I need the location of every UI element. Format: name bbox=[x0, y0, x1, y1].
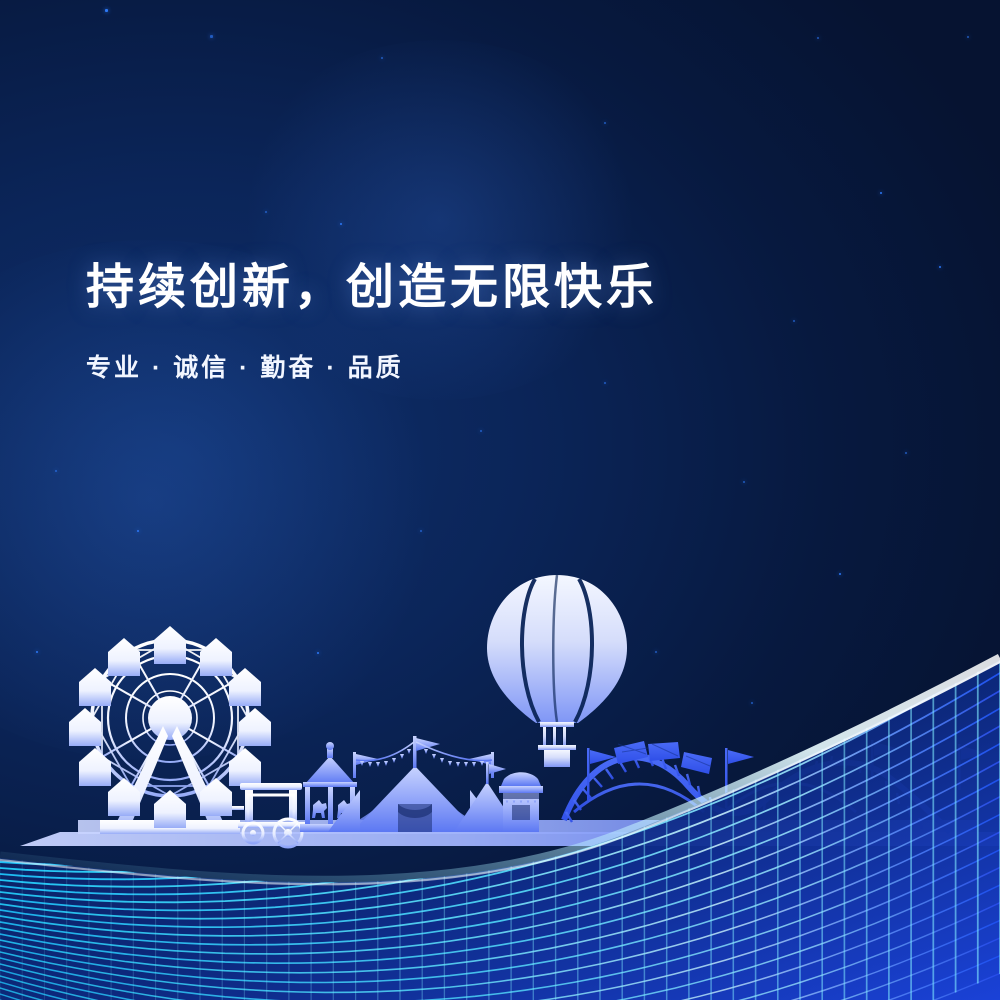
page-title: 持续创新，创造无限快乐 bbox=[86, 258, 658, 318]
wave-mesh-graphic bbox=[0, 0, 1000, 1000]
banner-canvas: 持续创新，创造无限快乐专业 · 诚信 · 勤奋 · 品质 bbox=[0, 0, 1000, 1000]
page-subtitle: 专业 · 诚信 · 勤奋 · 品质 bbox=[86, 348, 658, 384]
hero-text-block: 持续创新，创造无限快乐专业 · 诚信 · 勤奋 · 品质 bbox=[86, 258, 658, 384]
